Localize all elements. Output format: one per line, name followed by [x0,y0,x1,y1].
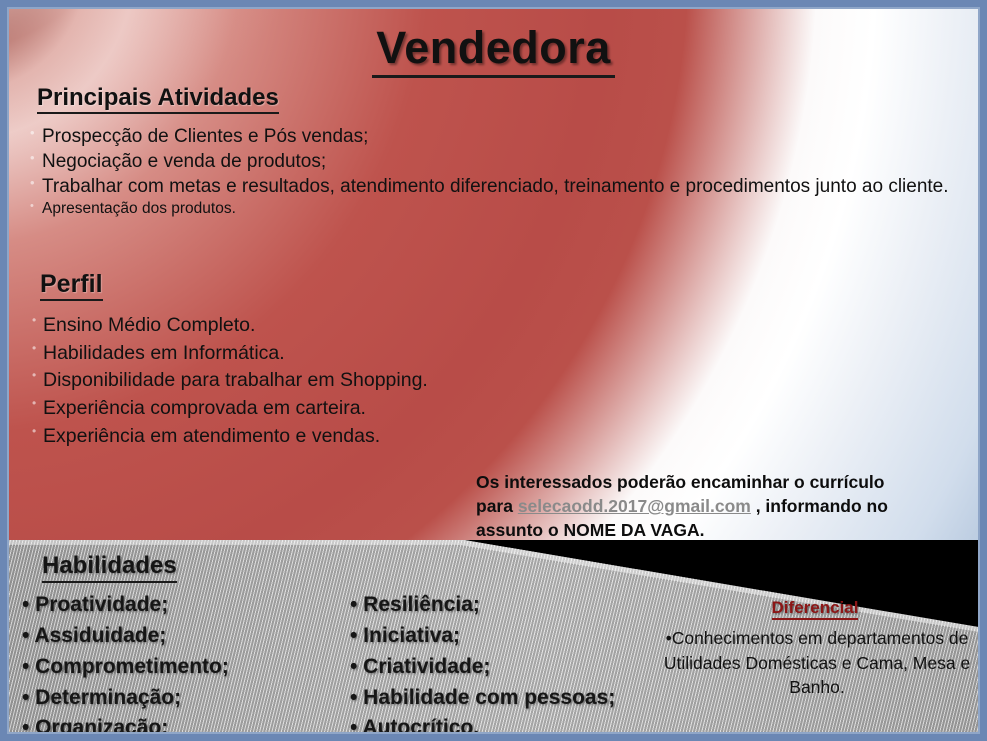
contact-line-1: Os interessados poderão encaminhar o cur… [476,472,884,492]
list-item: • Determinação; [22,683,322,714]
bullet-icon: • [32,423,43,440]
list-item: • Disponibilidade para trabalhar em Shop… [32,367,732,395]
list-item-label: Habilidades em Informática. [43,340,285,368]
section-heading-perfil: Perfil [40,270,103,299]
bullet-icon: • [32,340,43,357]
list-item: • Criatividade; [350,652,670,683]
list-item-label: Apresentação dos produtos. [42,199,236,219]
list-item-label: Ensino Médio Completo. [43,312,255,340]
list-item: • Resiliência; [350,590,670,621]
contact-after-email: , informando no [751,496,888,516]
list-item: • Comprometimento; [22,652,322,683]
list-item: • Organização; [22,713,322,741]
habilidades-column-2: • Resiliência; • Iniciativa; • Criativid… [350,590,670,741]
list-item-label: Experiência em atendimento e vendas. [43,423,380,451]
bullet-icon: • [30,199,42,214]
email-link[interactable]: selecaodd.2017@gmail.com [518,496,751,516]
list-item-label: Experiência comprovada em carteira. [43,395,366,423]
section-heading-habilidades: Habilidades [42,552,177,580]
contact-line-3: assunto o NOME DA VAGA. [476,520,704,540]
list-item: • Apresentação dos produtos. [30,199,955,219]
list-item-label: Prospecção de Clientes e Pós vendas; [42,124,368,149]
list-item: • Iniciativa; [350,621,670,652]
bullet-icon: • [30,174,42,191]
section-heading-atividades-text: Principais Atividades [37,84,279,114]
list-item: • Trabalhar com metas e resultados, aten… [30,174,955,199]
list-item: • Negociação e venda de produtos; [30,149,955,174]
list-item: • Proatividade; [22,590,322,621]
perfil-list: • Ensino Médio Completo. • Habilidades e… [32,312,732,450]
list-item: • Prospecção de Clientes e Pós vendas; [30,124,955,149]
bullet-icon: • [32,312,43,329]
page-title-text: Vendedora [372,22,615,78]
diferencial-body: •Conhecimentos em departamentos de Utili… [658,626,976,700]
contact-before-email: para [476,496,518,516]
section-heading-atividades: Principais Atividades [37,84,279,112]
job-posting-slide: Vendedora Principais Atividades • Prospe… [0,0,987,741]
section-heading-habilidades-text: Habilidades [42,552,177,583]
list-item: • Experiência em atendimento e vendas. [32,423,732,451]
list-item-label: Disponibilidade para trabalhar em Shoppi… [43,367,428,395]
list-item: • Ensino Médio Completo. [32,312,732,340]
section-heading-diferencial: Diferencial [650,598,980,618]
bullet-icon: • [32,367,43,384]
atividades-list: • Prospecção de Clientes e Pós vendas; •… [30,124,955,220]
bullet-icon: • [30,149,42,166]
habilidades-column-1: • Proatividade; • Assiduidade; • Comprom… [22,590,322,741]
list-item: • Habilidade com pessoas; [350,683,670,714]
section-heading-diferencial-text: Diferencial [772,598,859,620]
list-item: • Autocrítico. [350,713,670,741]
list-item: • Assiduidade; [22,621,322,652]
list-item: • Habilidades em Informática. [32,340,732,368]
list-item-label: Negociação e venda de produtos; [42,149,326,174]
bullet-icon: • [32,395,43,412]
list-item: • Experiência comprovada em carteira. [32,395,732,423]
bullet-icon: • [30,124,42,141]
section-heading-perfil-text: Perfil [40,270,103,301]
list-item-label: Trabalhar com metas e resultados, atendi… [42,174,949,199]
page-title: Vendedora [0,22,987,74]
contact-instructions: Os interessados poderão encaminhar o cur… [476,470,976,542]
